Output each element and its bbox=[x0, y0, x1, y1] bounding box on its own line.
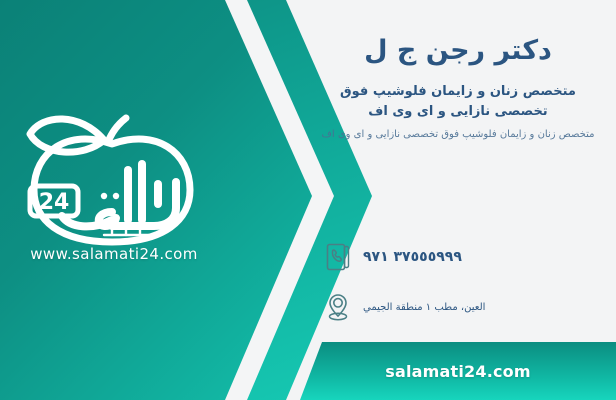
footer-bar: salamati24.com bbox=[300, 342, 616, 400]
contact-list: ٣٧٥٥٥٩٩٩ ٩٧١ العين، مطب ١ منطقة الجيمي bbox=[315, 240, 600, 340]
footer-url[interactable]: salamati24.com bbox=[385, 362, 531, 381]
address-text: العين، مطب ١ منطقة الجيمي bbox=[363, 302, 600, 313]
contact-row-phone[interactable]: ٣٧٥٥٥٩٩٩ ٩٧١ bbox=[315, 240, 600, 274]
contact-row-address[interactable]: العين، مطب ١ منطقة الجيمي bbox=[315, 290, 600, 324]
doctor-specialty-secondary: متخصص زنان و زایمان فلوشیپ فوق تخصصی ناز… bbox=[321, 126, 595, 143]
doctor-specialty-primary: متخصص زنان و زایمان فلوشیپ فوق تخصصی ناز… bbox=[321, 82, 595, 122]
logo-block: 24 www.salamati24.com bbox=[8, 108, 220, 273]
logo-24-text: 24 bbox=[39, 190, 70, 215]
phone-book-icon bbox=[323, 240, 353, 274]
apple-outline-icon: 24 bbox=[8, 108, 220, 248]
business-card: 24 www.salamati24.com دکتر رجن ج ل متخصص… bbox=[0, 0, 616, 400]
location-pin-icon bbox=[323, 290, 353, 324]
logo-tagline-mark bbox=[104, 230, 158, 235]
phone-number: ٣٧٥٥٥٩٩٩ ٩٧١ bbox=[363, 249, 600, 265]
doctor-name: دکتر رجن ج ل bbox=[321, 34, 595, 68]
logo-website[interactable]: www.salamati24.com bbox=[8, 245, 220, 263]
